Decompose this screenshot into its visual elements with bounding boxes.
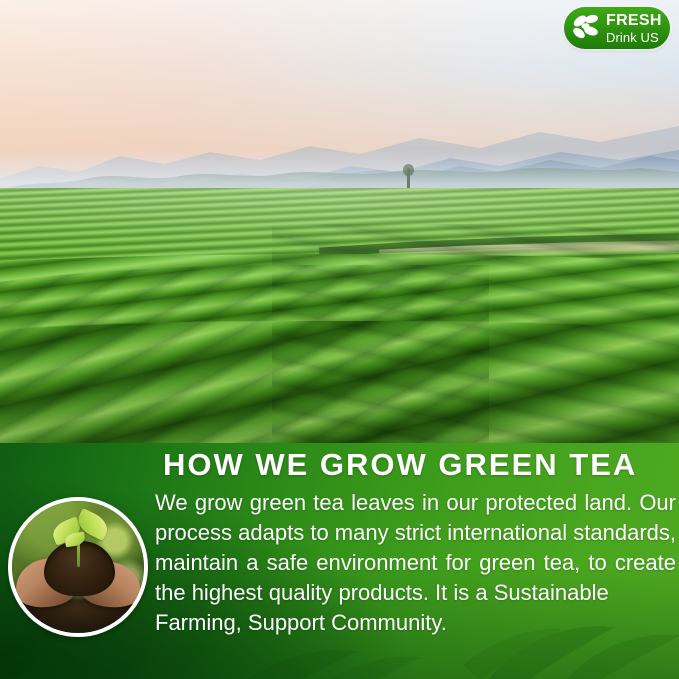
- tea-plantation-photo: FRESH Drink US: [0, 0, 679, 443]
- field-shading: [0, 188, 679, 443]
- leaf-cluster-icon: [569, 11, 605, 45]
- logo-line-2: Drink US: [606, 31, 662, 44]
- logo-line-1: FRESH: [606, 13, 662, 29]
- body-copy: We grow green tea leaves in our protecte…: [155, 488, 676, 638]
- tea-rows-field: [0, 188, 679, 443]
- logo-text: FRESH Drink US: [606, 13, 662, 44]
- body-paragraph-1: We grow green tea leaves in our protecte…: [155, 488, 676, 608]
- fresh-drink-us-logo[interactable]: FRESH Drink US: [564, 7, 670, 49]
- page-title: HOW WE GROW GREEN TEA: [163, 447, 637, 483]
- product-infographic-canvas: FRESH Drink US: [0, 0, 679, 679]
- hands-holding-seedling-photo: [8, 497, 148, 637]
- body-paragraph-2: Farming, Support Community.: [155, 608, 676, 638]
